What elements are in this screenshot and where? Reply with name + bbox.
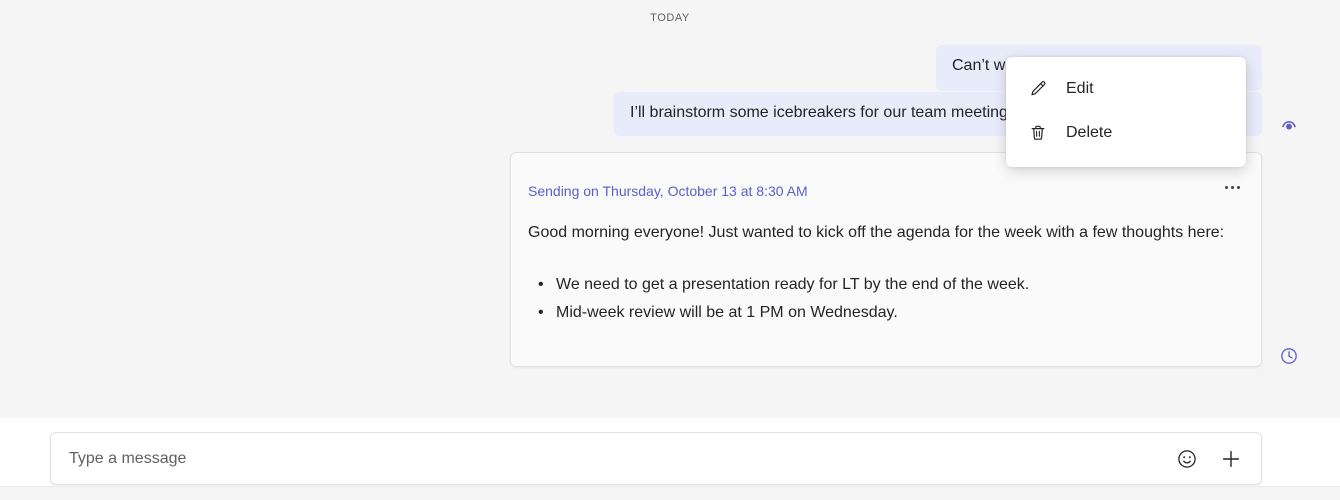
- scheduled-message-card[interactable]: Sending on Thursday, October 13 at 8:30 …: [510, 152, 1262, 367]
- dot: [1225, 186, 1228, 189]
- day-divider: TODAY: [0, 8, 1340, 27]
- scheduled-message-bullet-list: We need to get a presentation ready for …: [528, 271, 1225, 327]
- more-horizontal-icon[interactable]: [1219, 177, 1245, 197]
- plus-icon[interactable]: [1219, 447, 1243, 471]
- clock-icon: [1279, 346, 1299, 366]
- list-item: We need to get a presentation ready for …: [528, 271, 1225, 299]
- menu-item-label: Edit: [1066, 78, 1094, 100]
- message-context-menu[interactable]: Edit Delete: [1006, 57, 1246, 167]
- day-divider-label: TODAY: [650, 9, 690, 27]
- pencil-icon: [1028, 79, 1048, 99]
- message-composer[interactable]: [50, 432, 1262, 485]
- window-bottom-strip: [0, 486, 1340, 500]
- trash-icon: [1028, 123, 1048, 143]
- menu-item-label: Delete: [1066, 122, 1112, 144]
- message-input[interactable]: [51, 433, 1175, 484]
- menu-item-edit[interactable]: Edit: [1006, 67, 1246, 111]
- list-item: Mid-week review will be at 1 PM on Wedne…: [528, 299, 1225, 327]
- chat-bubble-text: I’ll brainstorm some icebreakers for our…: [630, 104, 1012, 121]
- emoji-smiley-icon[interactable]: [1175, 447, 1199, 471]
- dot: [1231, 186, 1234, 189]
- menu-item-delete[interactable]: Delete: [1006, 111, 1246, 155]
- scheduled-status-label: Sending on Thursday, October 13 at 8:30 …: [528, 181, 1225, 201]
- composer-actions: [1175, 447, 1261, 471]
- seen-receipt-icon: [1279, 114, 1299, 134]
- dot: [1237, 186, 1240, 189]
- scheduled-message-body: Good morning everyone! Just wanted to ki…: [528, 219, 1225, 247]
